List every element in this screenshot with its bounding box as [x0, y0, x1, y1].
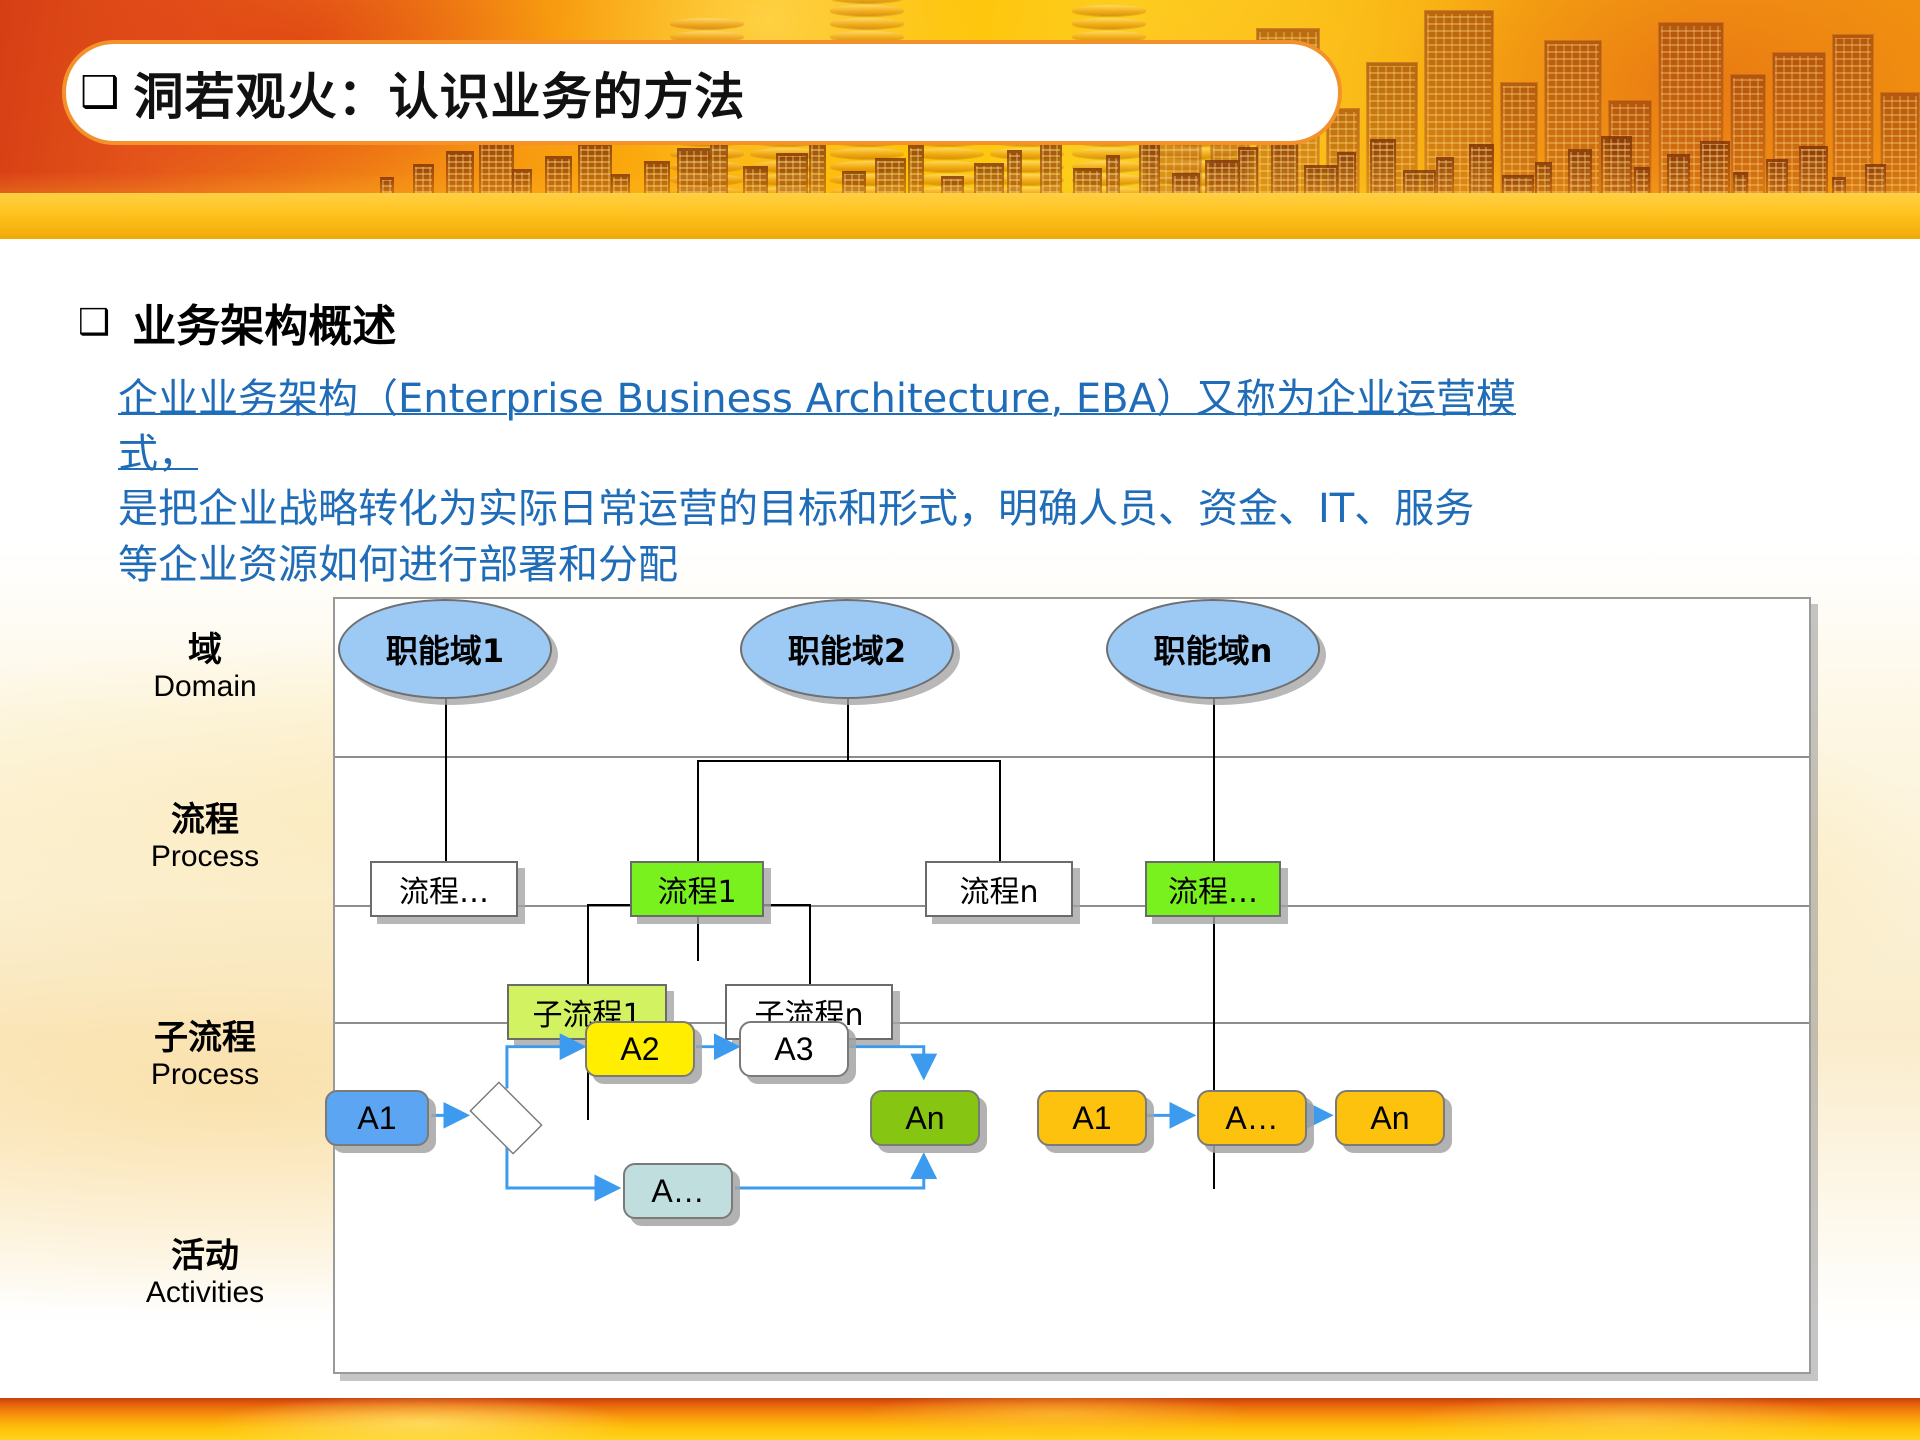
skyline-building-small — [1139, 142, 1160, 193]
activity-node-a3[interactable]: A3 — [739, 1021, 849, 1077]
paragraph-line-2: 是把企业战略转化为实际日常运营的目标和形式，明确人员、资金、IT、服务 — [118, 482, 1548, 537]
skyline-building-small — [1007, 150, 1022, 193]
section-heading: ❑ 业务架构概述 — [78, 290, 396, 354]
skyline-building-small — [1172, 173, 1200, 193]
banner-bottom-band — [0, 193, 1920, 245]
skyline-building-small — [545, 156, 572, 193]
skyline-building-small — [1304, 165, 1338, 193]
business-architecture-diagram: 职能域1 职能域2 职能域n 流程… 流程1 流程n 流程… 子流程1 子流程n… — [333, 597, 1811, 1374]
skyline-building-small — [1205, 160, 1240, 193]
title-bullet-icon: ❑ — [80, 71, 119, 115]
skyline-building-small — [842, 171, 866, 193]
activity-node-a1-left[interactable]: A1 — [325, 1090, 429, 1146]
skyline-building-small — [413, 164, 434, 193]
paragraph-line-3: 等企业资源如何进行部署和分配 — [118, 538, 1548, 593]
row-label-activities: 活动 Activities — [90, 1238, 320, 1311]
skyline-building-small — [743, 166, 768, 193]
skyline-building-small — [1370, 139, 1396, 193]
skyline-building-small — [974, 163, 1004, 193]
skyline-building-small — [1568, 149, 1592, 193]
skyline-building-small — [1865, 164, 1886, 193]
skyline-building-small — [941, 176, 964, 193]
skyline-building-small — [479, 138, 514, 193]
skyline-building-small — [1601, 136, 1632, 193]
row-label-domain: 域 Domain — [90, 632, 320, 705]
skyline-building-small — [578, 143, 612, 193]
row-label-process-cn: 流程 — [90, 802, 320, 839]
skyline-building-small — [1667, 154, 1690, 193]
row-label-process: 流程 Process — [90, 802, 320, 875]
skyline-building-small — [611, 174, 630, 193]
paragraph-line-1: 企业业务架构（Enterprise Business Architecture,… — [118, 372, 1548, 482]
skyline-building-small — [1337, 152, 1356, 193]
skyline-building-small — [1238, 147, 1258, 193]
page-title: 洞若观火：认识业务的方法 — [133, 57, 745, 129]
activity-node-a1-right[interactable]: A1 — [1037, 1090, 1147, 1146]
section-bullet-icon: ❑ — [78, 304, 110, 340]
row-label-subprocess: 子流程 Process — [90, 1020, 320, 1093]
skyline-building-small — [1040, 137, 1062, 193]
skyline-building-small — [644, 161, 670, 193]
skyline-building-small — [1535, 162, 1552, 193]
skyline-building-small — [1766, 159, 1788, 193]
skyline-building-small — [776, 153, 808, 193]
row-label-activities-en: Activities — [90, 1275, 320, 1311]
row-label-subprocess-cn: 子流程 — [90, 1020, 320, 1057]
footer-band — [0, 1398, 1920, 1440]
section-title: 业务架构概述 — [132, 290, 396, 354]
skyline-building-small — [1733, 172, 1748, 193]
activity-node-a-ellipsis-right[interactable]: A… — [1197, 1090, 1307, 1146]
body-paragraph: 企业业务架构（Enterprise Business Architecture,… — [118, 372, 1548, 593]
skyline-building-small — [908, 145, 924, 193]
skyline-building-small — [1502, 175, 1534, 193]
skyline-building-small — [512, 169, 532, 193]
skyline-building-small — [1469, 144, 1494, 193]
row-label-domain-en: Domain — [90, 669, 320, 705]
row-label-domain-cn: 域 — [90, 632, 320, 669]
activity-node-a-ellipsis-left[interactable]: A… — [623, 1163, 733, 1219]
skyline-building-small — [1403, 170, 1436, 193]
skyline-building-small — [1799, 146, 1828, 193]
activity-flow-arrows — [335, 599, 1809, 1372]
skyline-building-small — [875, 158, 906, 193]
skyline-building-small — [446, 151, 474, 193]
row-label-process-en: Process — [90, 839, 320, 875]
skyline-building-small — [1634, 167, 1650, 193]
row-label-activities-cn: 活动 — [90, 1238, 320, 1275]
row-label-subprocess-en: Process — [90, 1057, 320, 1093]
footer-band-texture — [0, 1398, 1920, 1440]
skyline-building-small — [809, 140, 826, 193]
slide-title-plate: ❑ 洞若观火：认识业务的方法 — [62, 40, 1342, 145]
skyline-building-small — [677, 148, 710, 193]
skyline-building-small — [1700, 141, 1730, 193]
skyline-building-small — [1436, 157, 1454, 193]
skyline-building-small — [380, 177, 394, 193]
banner-bottom-rule — [0, 239, 1920, 245]
activity-node-an-right[interactable]: An — [1335, 1090, 1445, 1146]
activity-node-an-left[interactable]: An — [870, 1090, 980, 1146]
skyline-building-small — [1073, 168, 1102, 193]
activity-node-a2[interactable]: A2 — [585, 1021, 695, 1077]
skyline-building-small — [1832, 177, 1846, 193]
skyline-building-small — [1106, 155, 1120, 193]
